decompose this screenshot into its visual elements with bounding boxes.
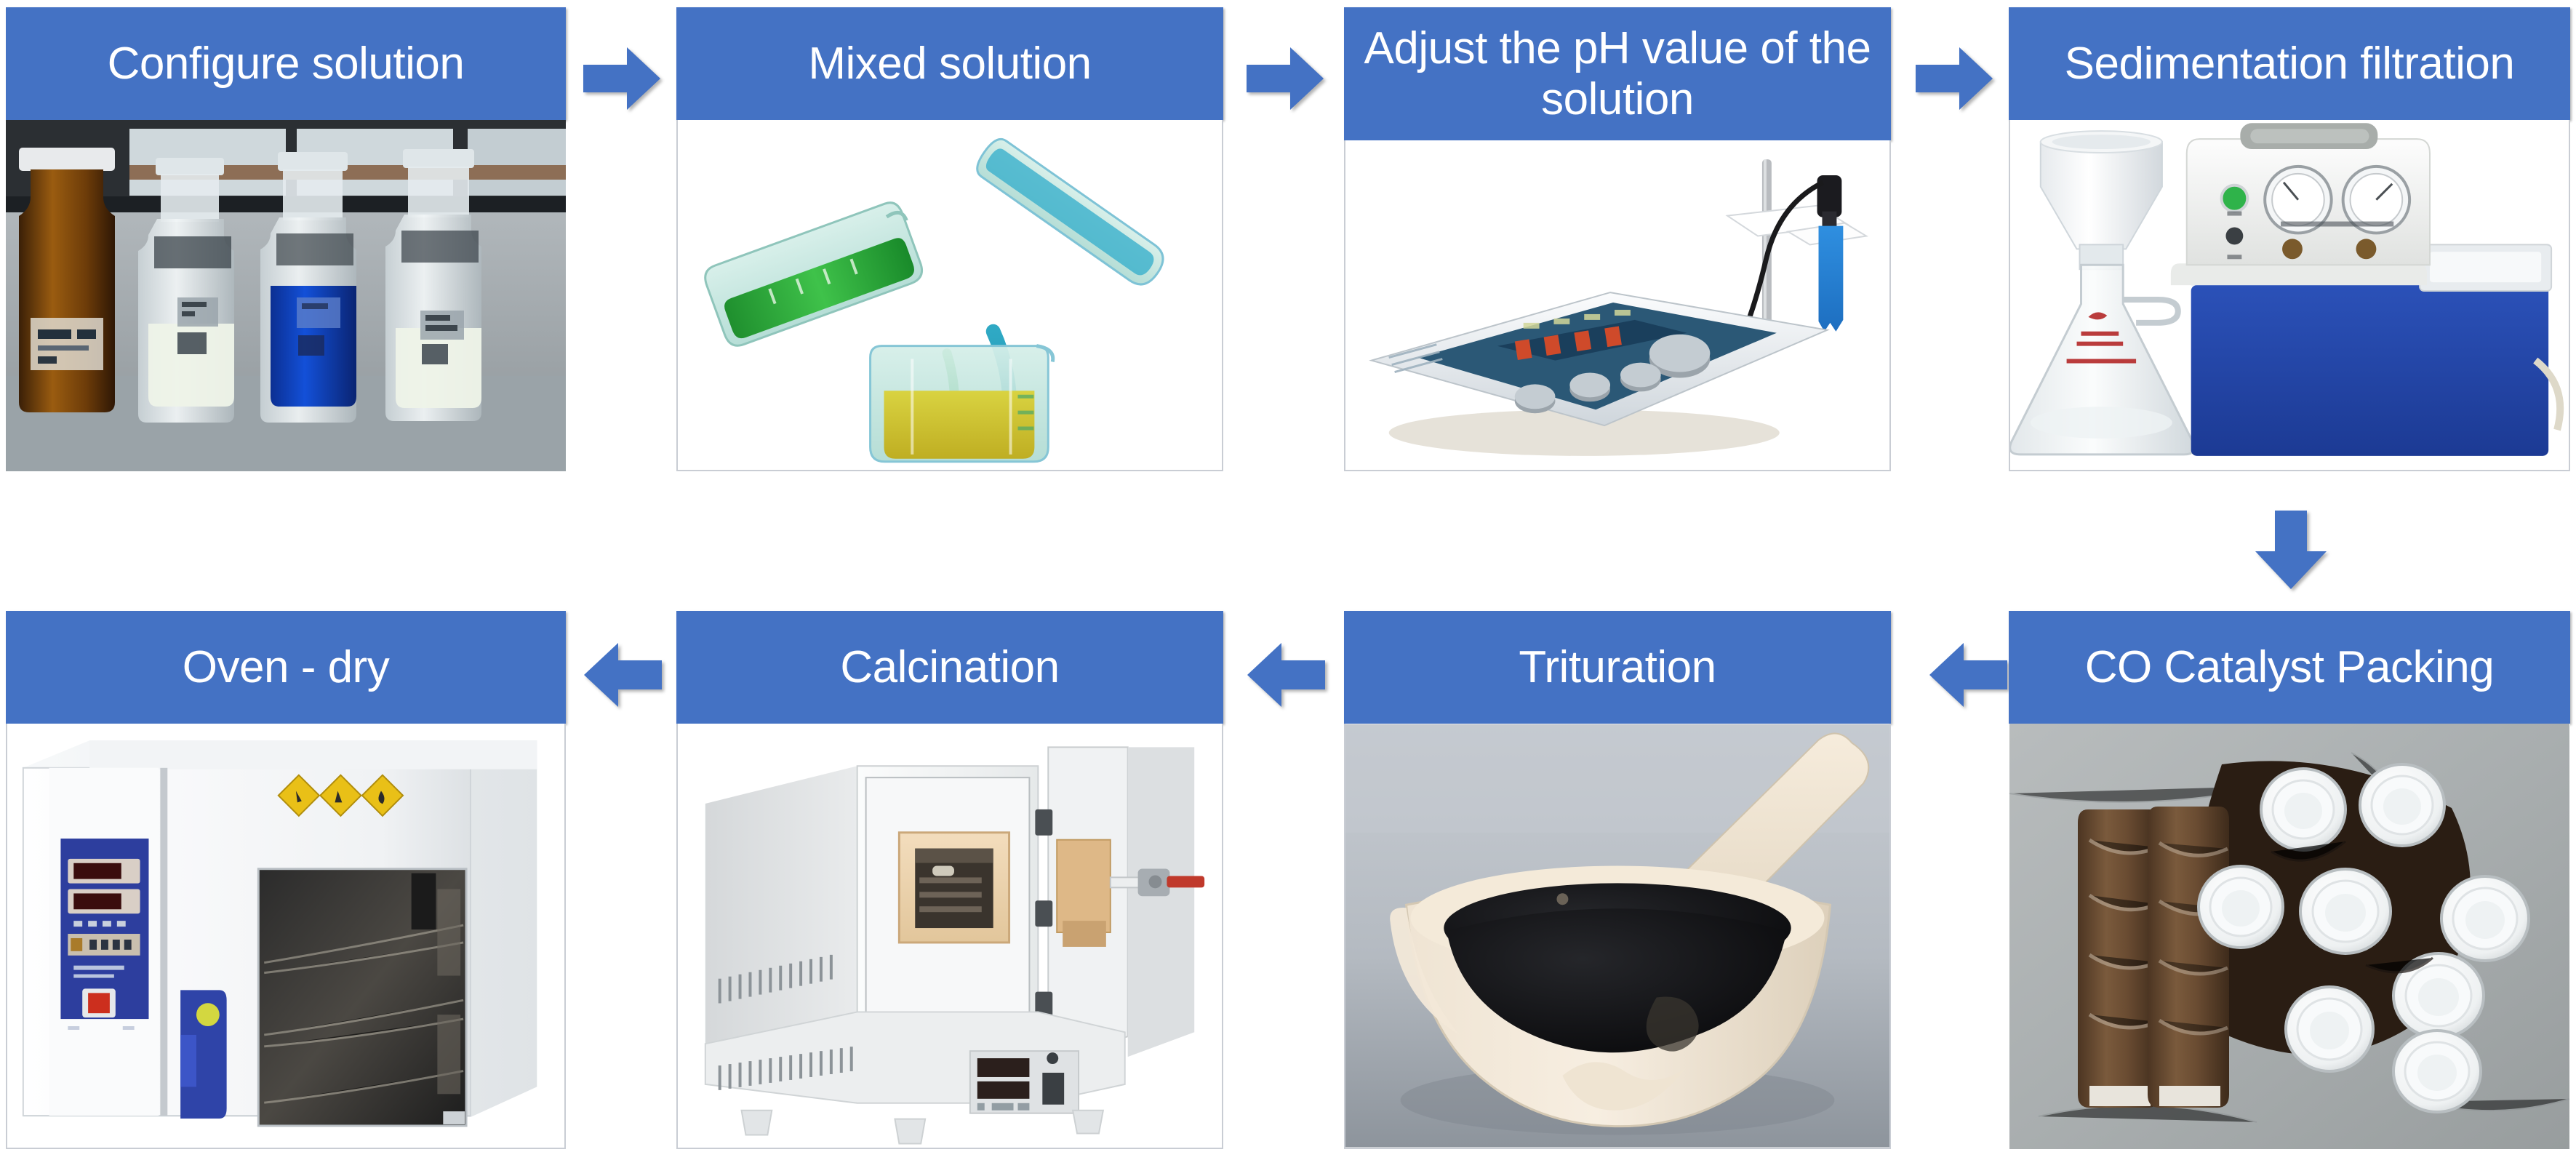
catalyst-roll-right [2148, 807, 2229, 1108]
arrow-right-icon [1914, 45, 1994, 112]
step-image-ph-meter [1344, 140, 1891, 471]
arrow-right-icon [1245, 45, 1325, 112]
step-title-co-catalyst-packing: CO Catalyst Packing [2009, 611, 2570, 724]
step-image-drying-oven [6, 724, 566, 1149]
step-image-beaker-pouring [676, 120, 1223, 471]
process-step-mixed-solution[interactable]: Mixed solution [676, 7, 1223, 471]
reagent-bottles-photo [6, 120, 566, 471]
flow-arrow-right-1 [582, 45, 662, 112]
arrow-left-icon [582, 640, 663, 710]
process-step-configure-solution[interactable]: Configure solution [6, 7, 566, 471]
drying-oven-photo [7, 724, 564, 1148]
flow-arrow-right-2 [1245, 45, 1325, 112]
flow-arrow-left-1 [1927, 640, 2009, 710]
flow-arrow-left-2 [1245, 640, 1327, 710]
packed-catalyst-photo [2009, 724, 2570, 1149]
flow-arrow-down [2253, 509, 2329, 591]
process-flow-diagram: Configure solution [0, 0, 2576, 1160]
muffle-furnace-photo [678, 724, 1222, 1148]
mortar-pestle-photo [1345, 724, 1889, 1148]
process-step-calcination[interactable]: Calcination [676, 611, 1223, 1149]
step-title-mixed-solution: Mixed solution [676, 7, 1223, 120]
process-step-sedimentation-filtration[interactable]: Sedimentation filtration [2009, 7, 2570, 471]
step-image-packed-catalyst [2009, 724, 2570, 1149]
receiving-beaker [871, 346, 1053, 462]
step-title-calcination: Calcination [676, 611, 1223, 724]
process-step-oven-dry[interactable]: Oven - dry [6, 611, 566, 1149]
arrow-down-icon [2253, 509, 2329, 591]
vacuum-filtration-photo [2010, 120, 2569, 470]
step-title-sedimentation-filtration: Sedimentation filtration [2009, 7, 2570, 120]
step-image-mortar-pestle [1344, 724, 1891, 1149]
arrow-left-icon [1245, 640, 1327, 710]
step-title-oven-dry: Oven - dry [6, 611, 566, 724]
ph-meter-photo [1345, 140, 1889, 470]
catalyst-roll-left [2078, 809, 2159, 1108]
arrow-right-icon [582, 45, 662, 112]
step-title-adjust-ph: Adjust the pH value of the solution [1344, 7, 1891, 140]
step-image-reagent-bottles [6, 120, 566, 471]
process-step-adjust-ph[interactable]: Adjust the pH value of the solution [1344, 7, 1891, 471]
step-title-configure-solution: Configure solution [6, 7, 566, 120]
step-title-trituration: Trituration [1344, 611, 1891, 724]
process-step-co-catalyst-packing[interactable]: CO Catalyst Packing [2009, 611, 2570, 1149]
step-image-muffle-furnace [676, 724, 1223, 1149]
step-image-vacuum-filtration [2009, 120, 2570, 471]
flow-arrow-left-3 [582, 640, 663, 710]
bottle-amber [19, 148, 115, 412]
arrow-left-icon [1927, 640, 2009, 710]
flow-arrow-right-3 [1914, 45, 1994, 112]
beaker-pouring-illustration [678, 120, 1222, 470]
hazard-labels [279, 775, 403, 816]
process-step-trituration[interactable]: Trituration [1344, 611, 1891, 1149]
